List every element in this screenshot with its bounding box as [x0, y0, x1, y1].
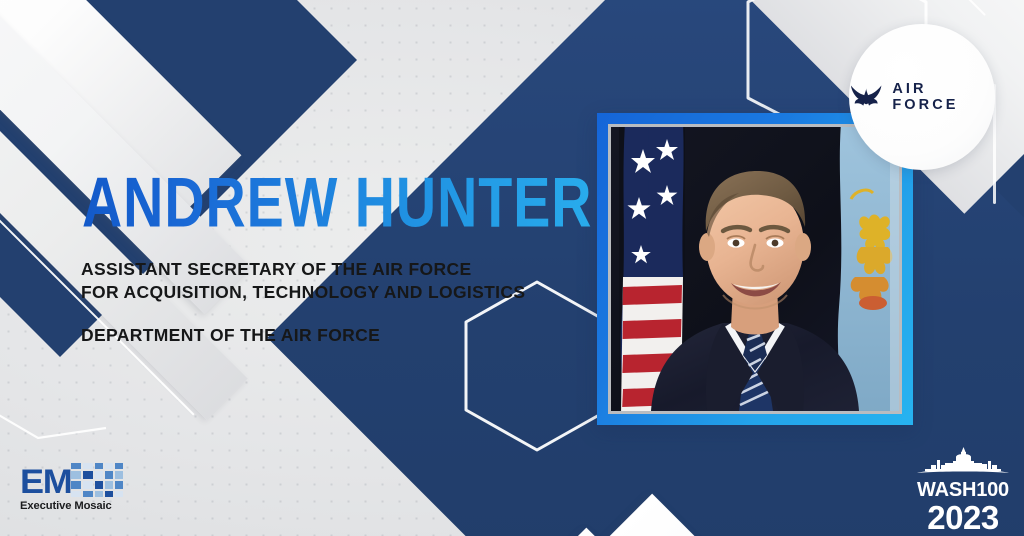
capitol-skyline-icon [915, 447, 1011, 479]
air-force-badge: AIR FORCE [849, 24, 995, 170]
mosaic-grid-icon [71, 463, 123, 497]
title-line-2: FOR ACQUISITION, TECHNOLOGY AND LOGISTIC… [81, 281, 525, 304]
wash100-award-card: ANDREW HUNTER ASSISTANT SECRETARY OF THE… [0, 0, 1024, 536]
bottom-diagonal-band-2 [550, 528, 891, 536]
air-force-badge-label: AIR FORCE [892, 81, 995, 113]
em-monogram: EM [20, 469, 72, 497]
title-block: ASSISTANT SECRETARY OF THE AIR FORCE FOR… [81, 258, 525, 346]
title-line-1: ASSISTANT SECRETARY OF THE AIR FORCE [81, 258, 525, 281]
wash100-year: 2023 [911, 501, 1015, 535]
page-title: ANDREW HUNTER [82, 168, 592, 239]
air-force-wings-icon [849, 82, 883, 112]
top-right-hairline [836, 0, 986, 16]
wash100-label: WASH100 [911, 480, 1015, 500]
portrait-inner-border [608, 124, 902, 414]
executive-mosaic-name: Executive Mosaic [20, 500, 136, 512]
organization-line: DEPARTMENT OF THE AIR FORCE [81, 325, 525, 346]
portrait-frame [597, 113, 913, 425]
executive-mosaic-logo: EM [20, 463, 136, 512]
portrait-photo [611, 127, 899, 411]
wash100-badge: WASH100 2023 [911, 447, 1015, 535]
